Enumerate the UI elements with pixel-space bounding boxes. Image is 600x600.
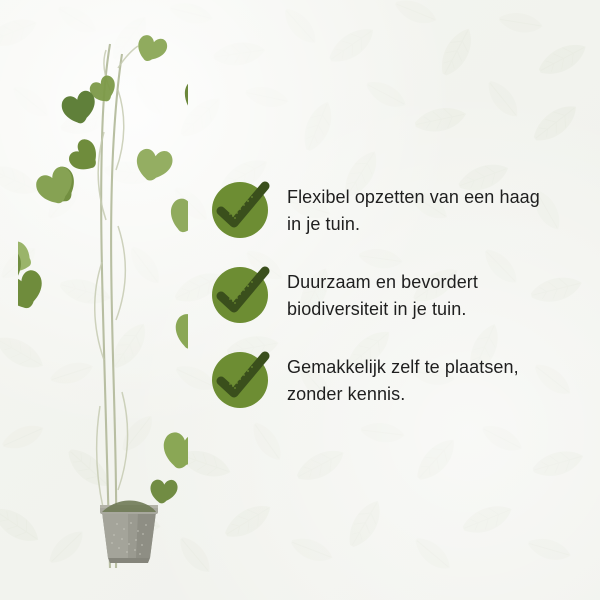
benefit-text: Duurzaam en bevordert biodiversiteit in …: [287, 269, 559, 323]
benefit-item: Flexibel opzetten van een haag in je tui…: [212, 178, 572, 263]
benefit-text: Flexibel opzetten van een haag in je tui…: [287, 184, 559, 238]
benefits-list: Flexibel opzetten van een haag in je tui…: [212, 178, 572, 433]
nursery-pot: [18, 478, 188, 580]
check-circle-icon: [212, 352, 268, 408]
check-circle-icon: [212, 182, 268, 238]
product-benefits-image: Flexibel opzetten van een haag in je tui…: [0, 0, 600, 600]
benefit-text: Gemakkelijk zelf te plaatsen, zonder ken…: [287, 354, 559, 408]
check-circle-icon: [212, 267, 268, 323]
benefit-item: Gemakkelijk zelf te plaatsen, zonder ken…: [212, 348, 572, 433]
benefit-item: Duurzaam en bevordert biodiversiteit in …: [212, 263, 572, 348]
climbing-ivy-plant-image: [18, 20, 188, 580]
